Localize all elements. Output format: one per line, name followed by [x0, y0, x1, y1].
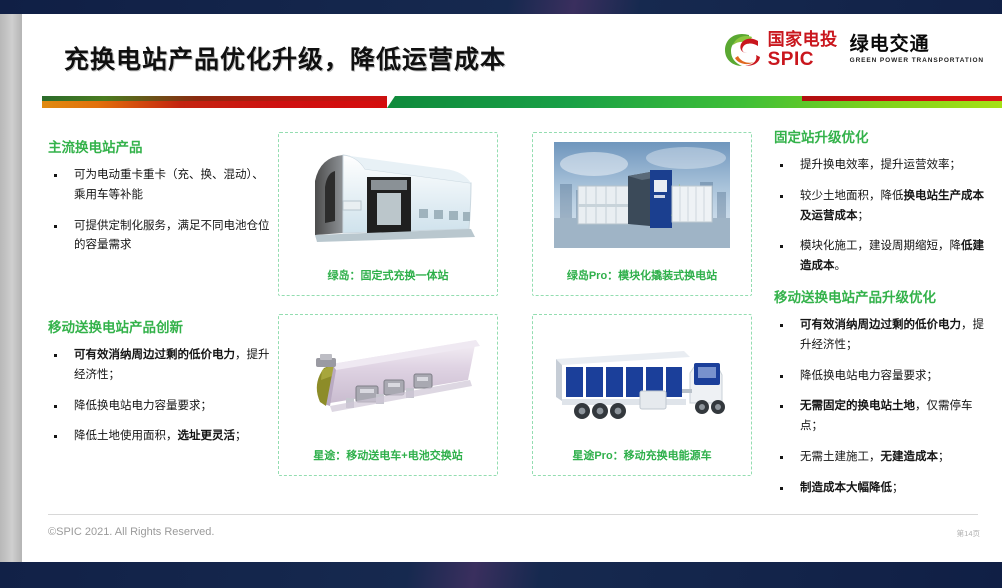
footer-divider [48, 514, 978, 515]
section-heading: 主流换电站产品 [48, 136, 274, 156]
bullet-list: 可有效消纳周边过剩的低价电力，提升经济性； 降低换电站电力容量要求； 降低土地使… [48, 346, 274, 447]
product-card-ludao[interactable]: 绿岛：固定式充换一体站 [278, 132, 498, 296]
spic-chinese-name: 国家电投 [768, 31, 838, 48]
list-item: 无需固定的换电站土地，仅需停车点； [774, 397, 988, 437]
page-number: 第14页 [957, 528, 980, 539]
bullet-list: 可为电动重卡重卡（充、换、混动）、乘用车等补能 可提供定制化服务，满足不同电池仓… [48, 166, 274, 256]
product-caption: 绿岛：固定式充换一体站 [279, 267, 497, 283]
bullet-list: 提升换电效率，提升运营效率； 较少土地面积，降低换电站生产成本及运营成本； 模块… [774, 156, 988, 277]
list-item: 降低换电站电力容量要求； [774, 367, 988, 387]
accent-segment-warm [42, 101, 387, 108]
brand-logos: 国家电投 SPIC 绿电交通 GREEN POWER TRANSPORTATIO… [722, 31, 984, 69]
presentation-viewer: 充换电站产品优化升级，降低运营成本 国家电投 SPIC [0, 0, 1002, 588]
spic-logo: 国家电投 SPIC [722, 31, 838, 69]
list-item: 提升换电效率，提升运营效率； [774, 156, 988, 176]
slide-canvas: 充换电站产品优化升级，降低运营成本 国家电投 SPIC [22, 14, 1002, 562]
spic-wordmark: 国家电投 SPIC [768, 31, 838, 69]
product-image [279, 321, 497, 433]
list-item: 制造成本大幅降低； [774, 479, 988, 499]
green-power-logo: 绿电交通 GREEN POWER TRANSPORTATION [850, 35, 984, 65]
section-heading: 固定站升级优化 [774, 126, 988, 146]
bullet-list: 可有效消纳周边过剩的低价电力，提升经济性； 降低换电站电力容量要求； 无需固定的… [774, 316, 988, 498]
section-mobile-station-innovation: 移动送换电站产品创新 可有效消纳周边过剩的低价电力，提升经济性； 降低换电站电力… [48, 316, 274, 458]
list-item: 较少土地面积，降低换电站生产成本及运营成本； [774, 187, 988, 227]
product-image [279, 139, 497, 251]
product-card-xingtu-pro[interactable]: 星途Pro：移动充换电能源车 [532, 314, 752, 476]
title-accent-bar [42, 96, 1002, 108]
modular-container-swap-station-icon [554, 142, 730, 248]
mobile-power-delivery-truck-icon [290, 326, 486, 428]
list-item: 无需土建施工，无建造成本； [774, 448, 988, 468]
product-image [533, 321, 751, 433]
product-caption: 星途：移动送电车+电池交换站 [279, 447, 497, 463]
list-item: 可提供定制化服务，满足不同电池仓位的容量需求 [48, 217, 274, 257]
section-mobile-station-upgrade: 移动送换电站产品升级优化 可有效消纳周边过剩的低价电力，提升经济性； 降低换电站… [774, 286, 988, 509]
accent-segment-red [802, 96, 1002, 101]
green-power-chinese-name: 绿电交通 [850, 35, 984, 54]
section-heading: 移动送换电站产品升级优化 [774, 286, 988, 306]
copyright-text: ©SPIC 2021. All Rights Reserved. [48, 526, 214, 538]
section-heading: 移动送换电站产品创新 [48, 316, 274, 336]
green-power-english-name: GREEN POWER TRANSPORTATION [850, 58, 984, 65]
viewer-left-gutter [0, 14, 22, 562]
product-caption: 绿岛Pro：模块化撬装式换电站 [533, 267, 751, 283]
product-image [533, 139, 751, 251]
arched-charge-swap-building-icon [295, 143, 481, 247]
product-caption: 星途Pro：移动充换电能源车 [533, 447, 751, 463]
mobile-energy-semi-trailer-icon [542, 327, 742, 427]
section-fixed-station-upgrade: 固定站升级优化 提升换电效率，提升运营效率； 较少土地面积，降低换电站生产成本及… [774, 126, 988, 288]
list-item: 可有效消纳周边过剩的低价电力，提升经济性； [48, 346, 274, 386]
list-item: 模块化施工，建设周期缩短，降低建造成本。 [774, 237, 988, 277]
spic-swirl-logo-icon [722, 31, 762, 69]
section-mainstream-products: 主流换电站产品 可为电动重卡重卡（充、换、混动）、乘用车等补能 可提供定制化服务… [48, 136, 274, 267]
list-item: 降低换电站电力容量要求； [48, 397, 274, 417]
product-card-xingtu[interactable]: 星途：移动送电车+电池交换站 [278, 314, 498, 476]
list-item: 可有效消纳周边过剩的低价电力，提升经济性； [774, 316, 988, 356]
list-item: 降低土地使用面积，选址更灵活； [48, 427, 274, 447]
list-item: 可为电动重卡重卡（充、换、混动）、乘用车等补能 [48, 166, 274, 206]
spic-english-name: SPIC [768, 50, 838, 69]
page-title: 充换电站产品优化升级，降低运营成本 [64, 40, 506, 76]
product-card-ludao-pro[interactable]: 绿岛Pro：模块化撬装式换电站 [532, 132, 752, 296]
